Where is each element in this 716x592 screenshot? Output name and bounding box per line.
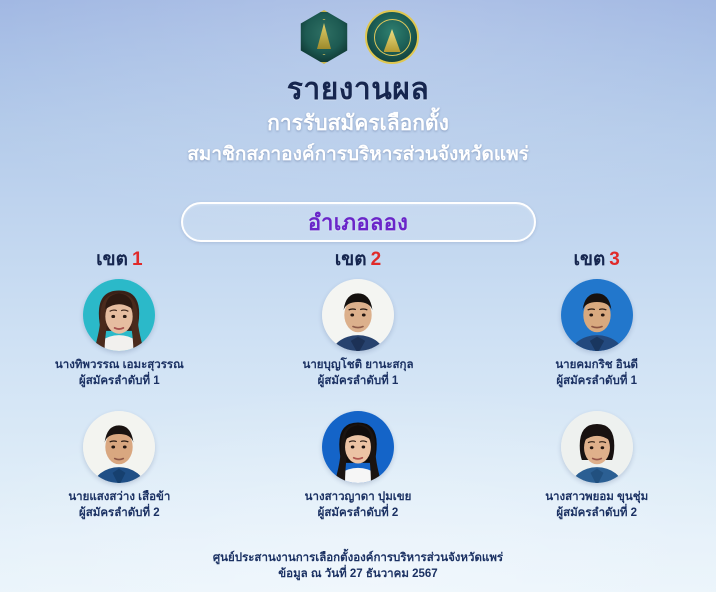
candidate-card: นางสาวญาดา ปุมเขย ผู้สมัครลำดับที่ 2 bbox=[305, 411, 412, 521]
zone-column-1: เขต1 bbox=[0, 250, 239, 521]
zones-grid: เขต1 bbox=[0, 250, 716, 521]
footer: ศูนย์ประสานงานการเลือกตั้งองค์การบริหารส… bbox=[0, 550, 716, 582]
zone-column-2: เขต2 นา bbox=[239, 250, 478, 521]
candidate-card: นายคมกริช อินดี ผู้สมัครลำดับที่ 1 bbox=[555, 279, 638, 389]
candidate-card: นางทิพวรรณ เอมะสุวรรณ ผู้สมัครลำดับที่ 1 bbox=[55, 279, 184, 389]
zone-heading-2: เขต2 bbox=[335, 250, 381, 269]
candidate-name: นายบุญโชติ ยานะสกุล bbox=[302, 358, 413, 374]
page-title: รายงานผล bbox=[0, 72, 716, 107]
title-block: รายงานผล การรับสมัครเลือกตั้ง สมาชิกสภาอ… bbox=[0, 72, 716, 166]
district-label: อำเภอลอง bbox=[308, 205, 408, 240]
provincial-seal-icon bbox=[297, 10, 351, 64]
candidate-name: นายแสงสว่าง เสือข้า bbox=[68, 490, 170, 506]
candidate-rank: ผู้สมัครลำดับที่ 1 bbox=[79, 374, 160, 390]
candidate-rank: ผู้สมัครลำดับที่ 2 bbox=[79, 506, 160, 522]
candidate-card: นายบุญโชติ ยานะสกุล ผู้สมัครลำดับที่ 1 bbox=[302, 279, 413, 389]
candidate-photo bbox=[561, 279, 633, 351]
candidate-rank: ผู้สมัครลำดับที่ 1 bbox=[556, 374, 637, 390]
candidate-rank: ผู้สมัครลำดับที่ 2 bbox=[318, 506, 399, 522]
candidate-rank: ผู้สมัครลำดับที่ 1 bbox=[318, 374, 399, 390]
candidate-rank: ผู้สมัครลำดับที่ 2 bbox=[556, 506, 637, 522]
candidate-name: นางทิพวรรณ เอมะสุวรรณ bbox=[55, 358, 184, 374]
candidate-photo bbox=[322, 411, 394, 483]
zone-heading-1: เขต1 bbox=[96, 250, 142, 269]
election-report-poster: รายงานผล การรับสมัครเลือกตั้ง สมาชิกสภาอ… bbox=[0, 0, 716, 592]
logo-row bbox=[0, 8, 716, 66]
candidate-photo bbox=[83, 411, 155, 483]
candidate-card: นายแสงสว่าง เสือข้า ผู้สมัครลำดับที่ 2 bbox=[68, 411, 170, 521]
candidate-name: นางสาวญาดา ปุมเขย bbox=[305, 490, 412, 506]
pao-seal-icon bbox=[365, 10, 419, 64]
candidate-card: นางสาวพยอม ขุนชุ่ม ผู้สมัครลำดับที่ 2 bbox=[545, 411, 648, 521]
zone-label: เขต bbox=[335, 249, 367, 270]
zone-number: 3 bbox=[609, 249, 620, 270]
candidate-photo bbox=[561, 411, 633, 483]
page-subtitle-1: การรับสมัครเลือกตั้ง bbox=[0, 111, 716, 137]
candidate-photo bbox=[322, 279, 394, 351]
candidate-name: นายคมกริช อินดี bbox=[555, 358, 638, 374]
zone-label: เขต bbox=[96, 249, 128, 270]
district-badge: อำเภอลอง bbox=[181, 202, 536, 242]
candidate-name: นางสาวพยอม ขุนชุ่ม bbox=[545, 490, 648, 506]
page-subtitle-2: สมาชิกสภาองค์การบริหารส่วนจังหวัดแพร่ bbox=[0, 143, 716, 167]
zone-label: เขต bbox=[573, 249, 605, 270]
zone-heading-3: เขต3 bbox=[573, 250, 619, 269]
district-pill-wrap: อำเภอลอง bbox=[0, 202, 716, 242]
zone-column-3: เขต3 นา bbox=[477, 250, 716, 521]
zone-number: 1 bbox=[132, 249, 143, 270]
footer-date: ข้อมูล ณ วันที่ 27 ธันวาคม 2567 bbox=[0, 566, 716, 582]
footer-organization: ศูนย์ประสานงานการเลือกตั้งองค์การบริหารส… bbox=[0, 550, 716, 566]
zone-number: 2 bbox=[371, 249, 382, 270]
candidate-photo bbox=[83, 279, 155, 351]
